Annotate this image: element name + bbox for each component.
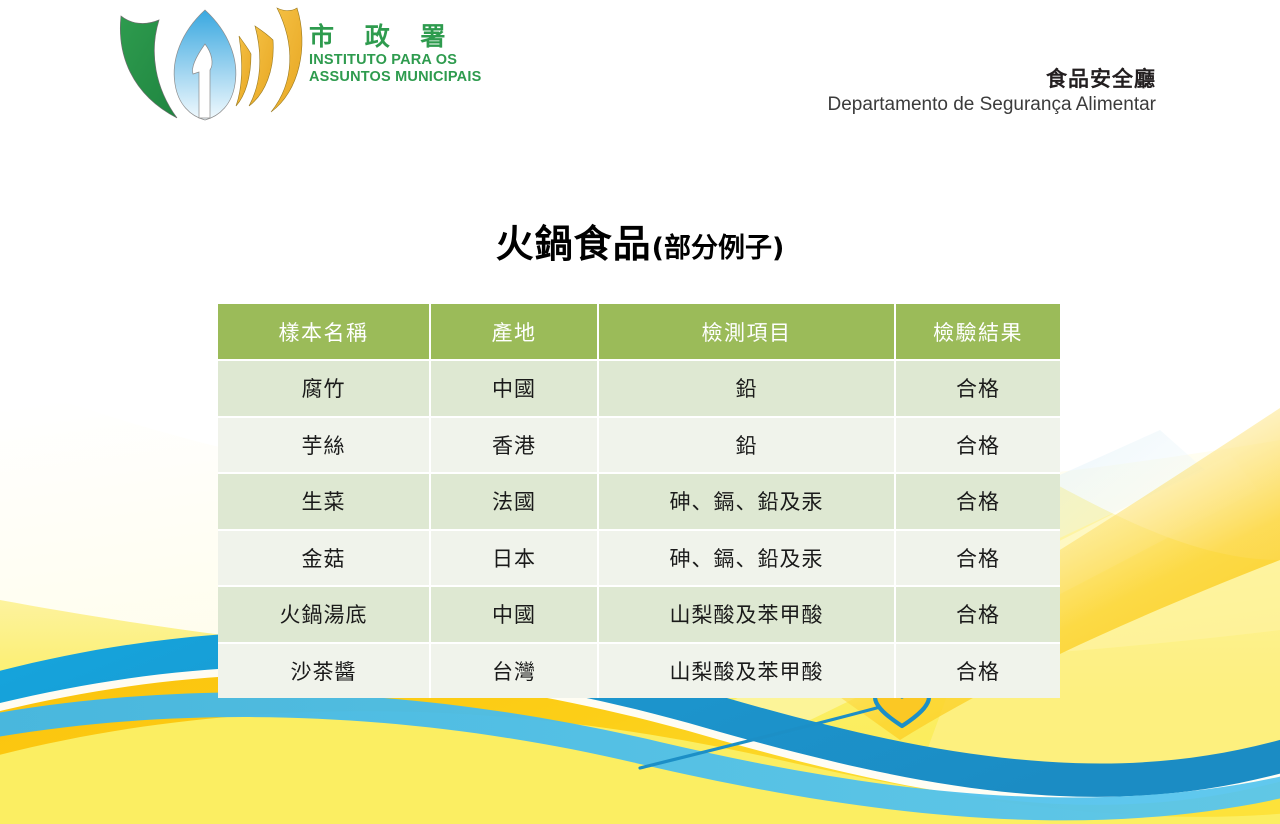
page-header: 市 政 署 INSTITUTO PARA OS ASSUNTOS MUNICIP…: [0, 0, 1280, 140]
cell-sample-name: 金菇: [218, 531, 431, 588]
cell-test-item: 山梨酸及苯甲酸: [599, 644, 896, 699]
blue-wave-secondary: [0, 692, 1280, 820]
cell-origin: 香港: [431, 418, 599, 475]
page-title-sub: (部分例子): [652, 233, 785, 264]
cell-origin: 日本: [431, 531, 599, 588]
iam-lotus-emblem-logo-icon: [115, 2, 305, 122]
cell-origin: 中國: [431, 587, 599, 644]
cell-sample-name: 火鍋湯底: [218, 587, 431, 644]
table-row: 芋絲香港鉛合格: [218, 418, 1060, 475]
brand-name-pt: INSTITUTO PARA OS ASSUNTOS MUNICIPAIS: [309, 52, 481, 86]
cell-origin: 台灣: [431, 644, 599, 699]
cell-result: 合格: [896, 474, 1060, 531]
cell-origin: 中國: [431, 361, 599, 418]
table-row: 腐竹中國鉛合格: [218, 361, 1060, 418]
department-block: 食品安全廳 Departamento de Segurança Alimenta…: [828, 66, 1156, 118]
cell-origin: 法國: [431, 474, 599, 531]
brand-name-cn: 市 政 署: [309, 24, 481, 50]
cell-result: 合格: [896, 418, 1060, 475]
column-header-origin: 產地: [431, 304, 599, 361]
table-header-row: 樣本名稱 產地 檢測項目 檢驗結果: [218, 304, 1060, 361]
table-row: 生菜法國砷、鎘、鉛及汞合格: [218, 474, 1060, 531]
page-title: 火鍋食品(部分例子): [0, 213, 1280, 268]
department-name-pt: Departamento de Segurança Alimentar: [828, 93, 1156, 118]
logo-green-leaf: [120, 16, 177, 118]
cell-sample-name: 腐竹: [218, 361, 431, 418]
logo-gold-feather-3: [271, 8, 302, 112]
table-row: 沙茶醬台灣山梨酸及苯甲酸合格: [218, 644, 1060, 699]
table-row: 火鍋湯底中國山梨酸及苯甲酸合格: [218, 587, 1060, 644]
brand-logo: 市 政 署 INSTITUTO PARA OS ASSUNTOS MUNICIP…: [115, 2, 485, 128]
cell-test-item: 砷、鎘、鉛及汞: [599, 531, 896, 588]
column-header-result: 檢驗結果: [896, 304, 1060, 361]
department-name-cn: 食品安全廳: [828, 66, 1156, 92]
brand-wordmark: 市 政 署 INSTITUTO PARA OS ASSUNTOS MUNICIP…: [309, 24, 481, 86]
cell-test-item: 鉛: [599, 418, 896, 475]
gold-wave-soft: [0, 711, 1280, 824]
cell-sample-name: 生菜: [218, 474, 431, 531]
cell-test-item: 山梨酸及苯甲酸: [599, 587, 896, 644]
logo-gold-feather-2: [249, 26, 273, 106]
column-header-sample-name: 樣本名稱: [218, 304, 431, 361]
cell-test-item: 砷、鎘、鉛及汞: [599, 474, 896, 531]
cell-sample-name: 芋絲: [218, 418, 431, 475]
cell-result: 合格: [896, 587, 1060, 644]
column-header-test-item: 檢測項目: [599, 304, 896, 361]
page-title-main: 火鍋食品: [496, 222, 652, 266]
heart-string: [640, 706, 884, 768]
table-head: 樣本名稱 產地 檢測項目 檢驗結果: [218, 304, 1060, 361]
cell-sample-name: 沙茶醬: [218, 644, 431, 699]
cell-result: 合格: [896, 531, 1060, 588]
inspection-results-table: 樣本名稱 產地 檢測項目 檢驗結果 腐竹中國鉛合格芋絲香港鉛合格生菜法國砷、鎘、…: [218, 304, 1060, 698]
cell-result: 合格: [896, 361, 1060, 418]
cell-test-item: 鉛: [599, 361, 896, 418]
logo-gold-feather-1: [236, 36, 251, 106]
table-row: 金菇日本砷、鎘、鉛及汞合格: [218, 531, 1060, 588]
table-body: 腐竹中國鉛合格芋絲香港鉛合格生菜法國砷、鎘、鉛及汞合格金菇日本砷、鎘、鉛及汞合格…: [218, 361, 1060, 698]
cell-result: 合格: [896, 644, 1060, 699]
